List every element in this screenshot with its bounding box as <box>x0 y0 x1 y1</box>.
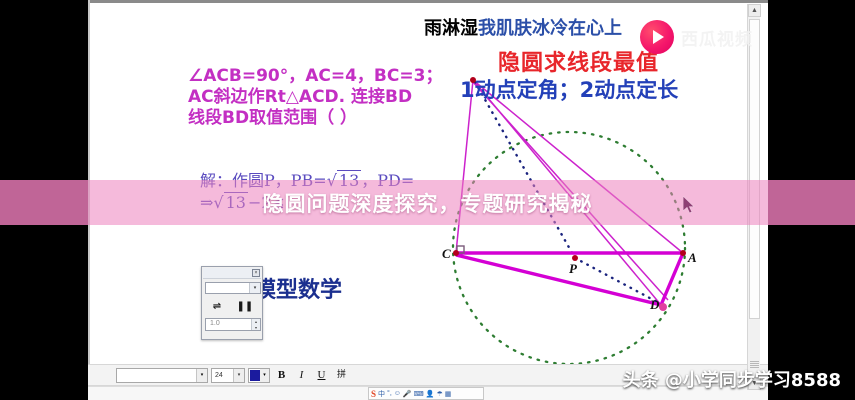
italic-button[interactable]: I <box>293 367 310 383</box>
chevron-down-icon[interactable]: ▾ <box>260 369 269 382</box>
lyric-unsung: 我肌肤冰冷在心上 <box>478 18 622 39</box>
chevron-down-icon[interactable]: ▾ <box>233 369 244 382</box>
swap-arrows-icon[interactable]: ⇌ <box>213 301 221 312</box>
chevron-down-icon[interactable]: ▾ <box>196 369 207 382</box>
promo-banner: 隐圆问题深度探究，专题研究揭秘 <box>0 180 855 225</box>
font-size-value: 24 <box>215 372 223 379</box>
problem-statement: ∠ACB=90°，AC=4，BC=3； AC斜边作Rt△ACD. 连接BD 线段… <box>188 66 438 129</box>
umbrella-icon[interactable]: ☂ <box>436 390 442 398</box>
animation-dialog[interactable]: × ▾ ⇌ ❚❚ 1.0 ▴▾ <box>201 266 263 340</box>
bold-button[interactable]: B <box>273 367 290 383</box>
video-player-frame: C P A D 雨淋湿我肌肤冰冷在心上 隐圆求线段最值 1动点定角；2动点定长 … <box>0 0 855 400</box>
toutiao-watermark: 头条 @小学同步学习8588 <box>623 366 841 392</box>
apps-icon[interactable]: ▦ <box>445 390 452 398</box>
underline-button[interactable]: U <box>313 367 330 383</box>
pause-icon[interactable]: ❚❚ <box>237 301 254 312</box>
xigua-wordmark: 西瓜视频 <box>681 25 753 50</box>
label-c: C <box>442 246 451 261</box>
brand-label: 模型数学 <box>254 272 342 304</box>
close-icon[interactable]: × <box>252 269 260 277</box>
play-circle-icon <box>640 20 674 54</box>
color-swatch <box>250 370 260 381</box>
label-p: P <box>569 261 578 276</box>
animation-select[interactable]: ▾ <box>205 282 261 294</box>
xigua-video-logo: 西瓜视频 <box>640 20 753 54</box>
promo-banner-text: 隐圆问题深度探究，专题研究揭秘 <box>263 188 593 218</box>
point-c[interactable] <box>453 250 459 256</box>
mic-icon[interactable]: 🎤 <box>403 390 412 398</box>
scrollbar-thumb[interactable] <box>749 19 760 319</box>
speed-value: 1.0 <box>210 320 220 327</box>
scroll-up-button[interactable]: ▲ <box>748 4 761 17</box>
emoji-icon[interactable]: ☺ <box>394 390 401 397</box>
label-a: A <box>687 250 697 265</box>
karaoke-lyric: 雨淋湿我肌肤冰冷在心上 <box>424 14 674 40</box>
speed-stepper[interactable]: 1.0 ▴▾ <box>205 318 261 331</box>
banner-tint-left <box>0 180 88 225</box>
chevron-down-icon[interactable]: ▾ <box>249 283 260 293</box>
playback-controls[interactable]: ⇌ ❚❚ <box>205 298 261 314</box>
keyboard-icon[interactable]: ⌨ <box>414 390 424 398</box>
label-d: D <box>649 297 660 312</box>
ime-toolbar[interactable]: S 中 °, ☺ 🎤 ⌨ 👤 ☂ ▦ <box>368 387 484 400</box>
ime-mode-toggle[interactable]: 中 <box>378 389 385 399</box>
stepper-arrows[interactable]: ▴▾ <box>251 319 260 330</box>
mouse-cursor <box>683 196 697 216</box>
slide-title: 隐圆求线段最值 <box>498 45 659 77</box>
problem-line-1: ∠ACB=90°，AC=4，BC=3； <box>188 66 438 86</box>
font-size-select[interactable]: 24 ▾ <box>211 368 245 383</box>
sogou-logo-icon[interactable]: S <box>371 389 376 399</box>
point-d[interactable] <box>659 303 667 311</box>
user-icon[interactable]: 👤 <box>426 390 435 398</box>
lyric-sung: 雨淋湿 <box>424 18 478 39</box>
problem-line-2: AC斜边作Rt△ACD. 连接BD <box>188 87 438 107</box>
point-a[interactable] <box>680 250 686 256</box>
hidden-circle <box>453 132 685 364</box>
pinyin-button[interactable]: 拼 <box>333 367 350 383</box>
slide-subtitle: 1动点定角；2动点定长 <box>460 74 678 104</box>
banner-tint-right <box>768 180 855 225</box>
text-color-picker[interactable]: ▾ <box>248 368 270 383</box>
problem-line-3: 线段BD取值范围（ ） <box>188 108 438 128</box>
half-width-icon[interactable]: °, <box>387 390 392 397</box>
font-family-select[interactable]: ▾ <box>116 368 208 383</box>
